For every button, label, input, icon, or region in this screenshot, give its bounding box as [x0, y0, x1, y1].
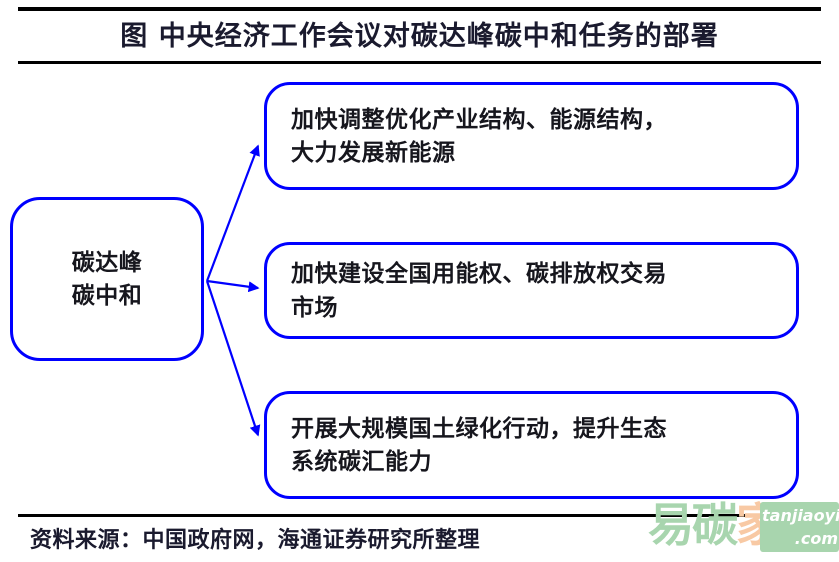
- footer-rule: [18, 514, 821, 517]
- source-note: 资料来源：中国政府网，海通证券研究所整理: [30, 522, 480, 554]
- node-branch-1-label: 加快调整优化产业结构、能源结构， 大力发展新能源: [267, 103, 683, 170]
- node-branch-3[interactable]: 开展大规模国土绿化行动，提升生态 系统碳汇能力: [264, 391, 799, 499]
- node-branch-2[interactable]: 加快建设全国用能权、碳排放权交易 市场: [264, 242, 799, 339]
- figure-container: 图 中央经济工作会议对碳达峰碳中和任务的部署 碳达峰 碳中和 加快调整优化产业结…: [0, 0, 839, 562]
- node-root-label: 碳达峰 碳中和: [72, 246, 143, 313]
- mind-map-diagram: 碳达峰 碳中和 加快调整优化产业结构、能源结构， 大力发展新能源 加快建设全国用…: [0, 0, 839, 562]
- node-branch-2-label: 加快建设全国用能权、碳排放权交易 市场: [267, 257, 683, 324]
- node-branch-3-label: 开展大规模国土绿化行动，提升生态 系统碳汇能力: [267, 412, 683, 479]
- connector-to-branch-3: [207, 281, 258, 435]
- node-root[interactable]: 碳达峰 碳中和: [10, 197, 204, 361]
- connector-to-branch-1: [207, 146, 258, 281]
- connector-to-branch-2: [207, 281, 258, 288]
- node-branch-1[interactable]: 加快调整优化产业结构、能源结构， 大力发展新能源: [264, 82, 799, 190]
